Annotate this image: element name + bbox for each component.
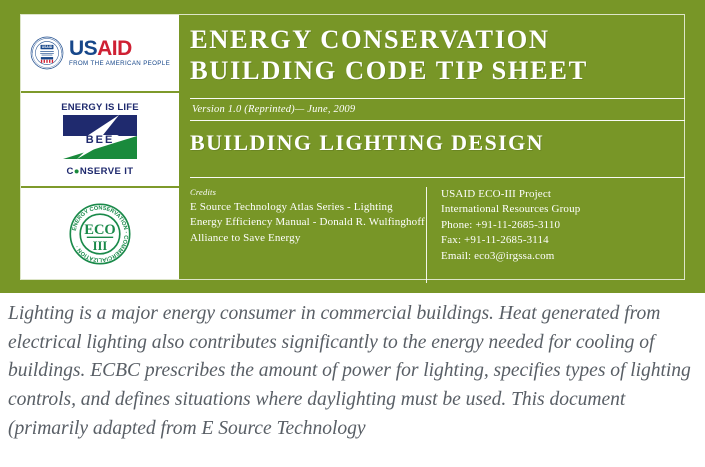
banner-lower-row: Credits E Source Technology Atlas Series…: [190, 187, 685, 283]
bee-logo: ENERGY IS LIFE BEE C●NSERVE IT: [57, 102, 143, 177]
contact-fax: Fax: +91-11-2685-3114: [441, 233, 685, 249]
svg-text:ECO: ECO: [84, 222, 115, 238]
logo-column: USAID: [21, 15, 179, 279]
usaid-wordmark: USAID FROM THE AMERICAN PEOPLE: [69, 38, 170, 67]
version-text: Version 1.0 (Reprinted)— June, 2009: [192, 104, 685, 115]
credits-line: Alliance to Save Energy: [190, 231, 414, 247]
credits-line: Energy Efficiency Manual - Donald R. Wul…: [190, 215, 414, 231]
bee-bottom-suffix: NSERVE IT: [80, 166, 134, 177]
svg-text:BEE: BEE: [86, 134, 115, 146]
bee-mark-icon: BEE: [57, 115, 143, 159]
usaid-word-aid: AID: [97, 37, 132, 60]
contact-phone: Phone: +91-11-2685-3110: [441, 218, 685, 234]
usaid-word: USAID: [69, 38, 170, 59]
page-subtitle: BUILDING LIGHTING DESIGN: [190, 130, 685, 156]
usaid-word-us: US: [69, 37, 97, 60]
title-line-1: ENERGY CONSERVATION: [190, 24, 685, 55]
bee-logo-cell: ENERGY IS LIFE BEE C●NSERVE IT: [21, 93, 179, 188]
banner-content: ENERGY CONSERVATION BUILDING CODE TIP SH…: [190, 15, 685, 279]
title-line-2: BUILDING CODE TIP SHEET: [190, 55, 685, 86]
bee-bottom-text: C●NSERVE IT: [57, 166, 143, 177]
eco3-logo-cell: ENERGY CONSERVATION · COMMERCIALIZATION …: [21, 188, 179, 279]
svg-text:USAID: USAID: [42, 45, 53, 49]
usaid-logo-cell: USAID: [21, 15, 179, 93]
usaid-seal-icon: USAID: [30, 36, 64, 70]
contact-org-name: International Resources Group: [441, 202, 685, 218]
bee-bottom-prefix: C: [67, 166, 74, 177]
svg-text:III: III: [93, 238, 108, 252]
eco3-logo-icon: ENERGY CONSERVATION · COMMERCIALIZATION …: [67, 201, 133, 267]
credits-line: E Source Technology Atlas Series - Light…: [190, 200, 414, 216]
contact-block: USAID ECO-III Project International Reso…: [441, 187, 685, 283]
credits-contact-divider: [426, 187, 427, 283]
header-banner: USAID: [0, 0, 705, 293]
credits-heading: Credits: [190, 187, 414, 197]
usaid-logo: USAID: [30, 36, 170, 70]
intro-paragraph: Lighting is a major energy consumer in c…: [8, 300, 702, 444]
page-title: ENERGY CONSERVATION BUILDING CODE TIP SH…: [190, 24, 685, 87]
contact-email: Email: eco3@irgssa.com: [441, 249, 685, 265]
subtitle-divider: [190, 177, 685, 178]
bee-top-text: ENERGY IS LIFE: [57, 102, 143, 113]
usaid-tagline: FROM THE AMERICAN PEOPLE: [69, 61, 170, 67]
title-divider: [190, 98, 685, 99]
credits-block: Credits E Source Technology Atlas Series…: [190, 187, 426, 283]
contact-project-name: USAID ECO-III Project: [441, 187, 685, 203]
version-divider: [190, 120, 685, 121]
